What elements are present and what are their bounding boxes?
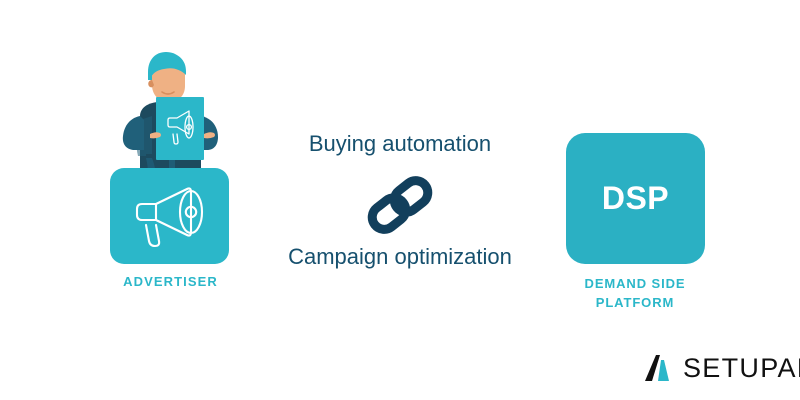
chain-link-icon bbox=[362, 176, 438, 234]
dsp-card: DSP bbox=[566, 133, 705, 264]
megaphone-icon bbox=[127, 183, 213, 249]
person-illustration-svg bbox=[100, 50, 240, 175]
setupad-a-mark-svg bbox=[644, 353, 674, 383]
setupad-logo-text: SETUPAD bbox=[683, 353, 800, 383]
center-group: Buying automation Campaign optimization bbox=[255, 118, 545, 283]
dsp-group: DSP DEMAND SIDE PLATFORM bbox=[545, 133, 725, 318]
advertiser-card bbox=[110, 168, 229, 264]
advertiser-group: ADVERTISER bbox=[88, 50, 253, 300]
setupad-a-mark-icon bbox=[644, 353, 674, 383]
caption-campaign-optimization: Campaign optimization bbox=[255, 243, 545, 271]
advertiser-label: ADVERTISER bbox=[88, 274, 253, 290]
dsp-card-text: DSP bbox=[602, 180, 669, 217]
caption-buying-automation: Buying automation bbox=[255, 130, 545, 158]
dsp-label-line-1: DEMAND SIDE bbox=[545, 274, 725, 293]
person-holding-poster-illustration bbox=[100, 50, 240, 175]
dsp-label: DEMAND SIDE PLATFORM bbox=[545, 274, 725, 312]
infographic-canvas: ADVERTISER Buying automation Campaign op… bbox=[0, 0, 800, 400]
dsp-label-line-2: PLATFORM bbox=[545, 293, 725, 312]
megaphone-icon-svg bbox=[127, 183, 213, 249]
setupad-logo: SETUPAD bbox=[644, 352, 800, 384]
chain-link-icon-svg bbox=[362, 176, 438, 234]
